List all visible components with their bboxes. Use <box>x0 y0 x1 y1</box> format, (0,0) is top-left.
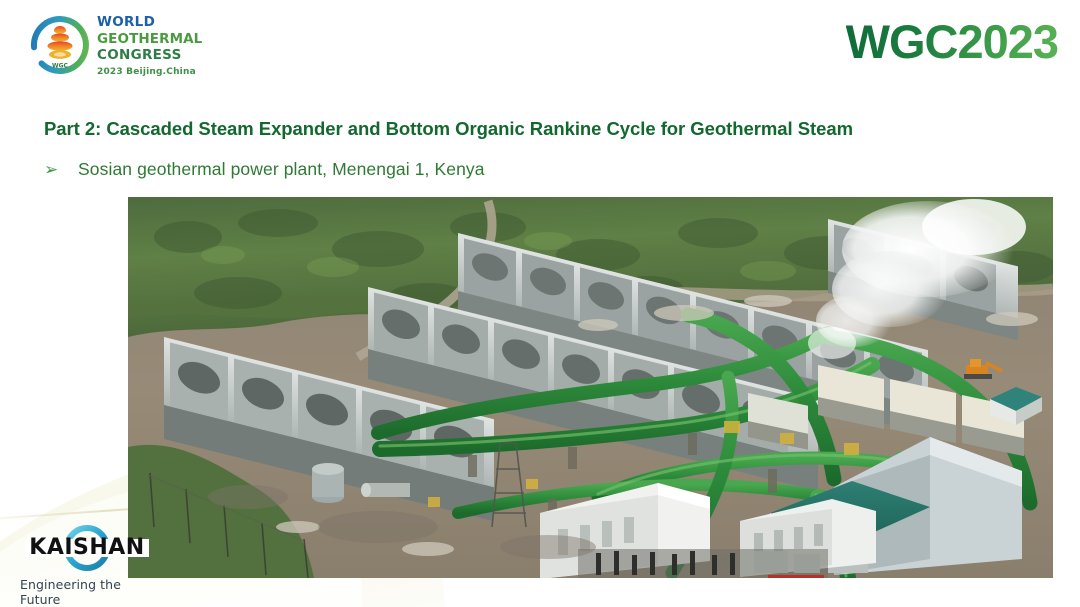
wgc-logo-line-congress: CONGRESS <box>97 49 202 63</box>
kaishan-logo-mark: KAISHAN <box>17 522 157 574</box>
presentation-slide: WGC WORLD GEOTHERMAL CONGRESS 2023 Beiji… <box>0 0 1080 607</box>
wgc-logo-line-location: 2023 Beijing.China <box>97 68 202 77</box>
arrow-bullet-icon: ➢ <box>44 161 78 178</box>
slide-bullet-item: ➢ Sosian geothermal power plant, Menenga… <box>44 159 485 180</box>
kaishan-logo: KAISHAN Engineering the Future <box>17 522 157 607</box>
wgc-congress-logo: WGC WORLD GEOTHERMAL CONGRESS 2023 Beiji… <box>30 14 202 77</box>
wgc-logo-wordmark: WORLD GEOTHERMAL CONGRESS 2023 Beijing.C… <box>97 14 202 77</box>
wgc-logo-line-geothermal: GEOTHERMAL <box>97 33 202 47</box>
wgc-logo-line-world: WORLD <box>97 16 202 30</box>
kaishan-tagline: Engineering the Future <box>20 577 157 607</box>
svg-text:KAISHAN: KAISHAN <box>29 535 144 560</box>
slide-title: Part 2: Cascaded Steam Expander and Bott… <box>44 118 853 140</box>
wgc2023-wordmark: WGC2023 <box>846 14 1058 69</box>
wgc-emblem-icon: WGC <box>30 15 90 75</box>
slide-bullet-label: Sosian geothermal power plant, Menengai … <box>78 159 485 180</box>
svg-text:WGC: WGC <box>52 63 69 70</box>
slide-header: WGC WORLD GEOTHERMAL CONGRESS 2023 Beiji… <box>0 0 1080 100</box>
plant-aerial-photo <box>128 197 1053 578</box>
